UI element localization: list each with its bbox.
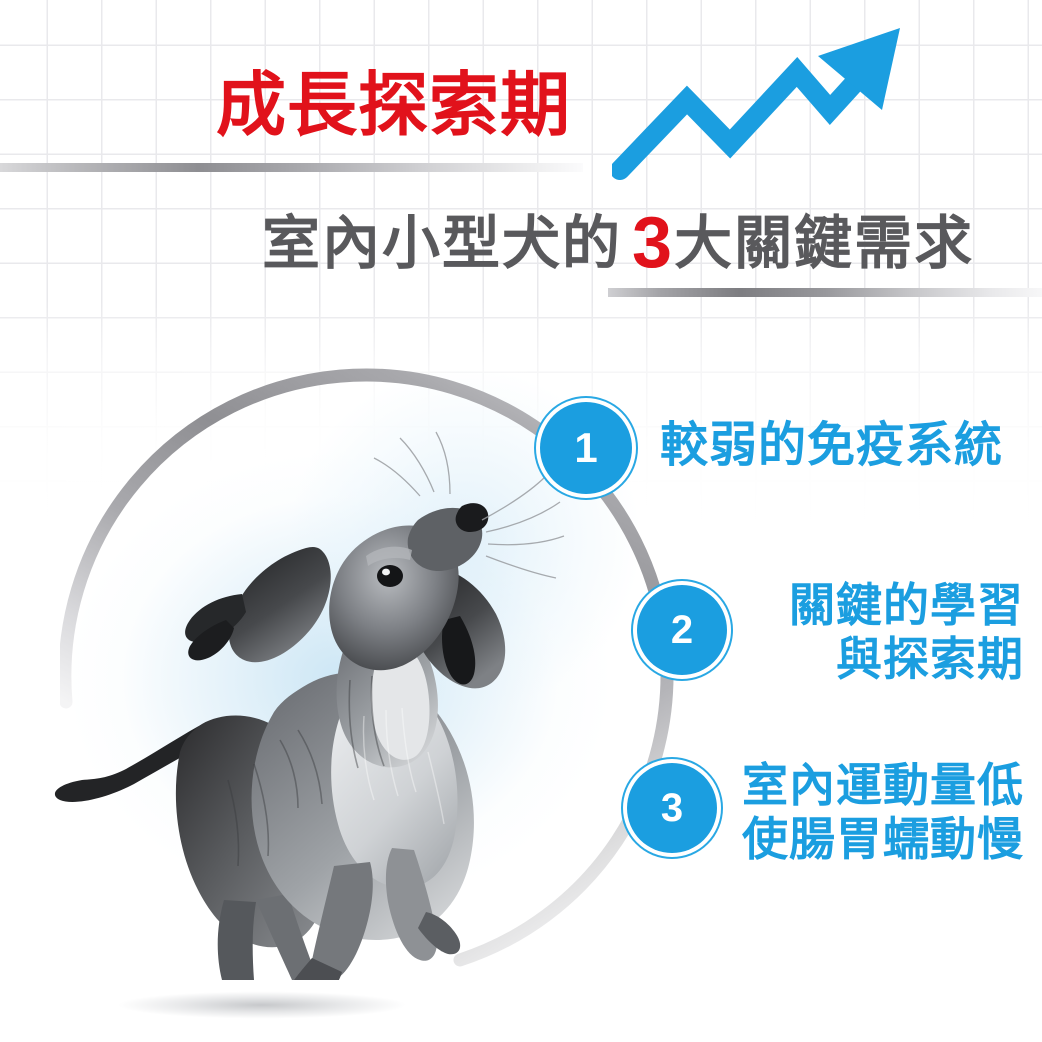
dog-ground-shadow (100, 988, 460, 1022)
page-title: 成長探索期 (216, 70, 571, 140)
page-subtitle: 室內小型犬的3大關鍵需求 (262, 200, 974, 279)
need-label-2: 關鍵的學習 與探索期 (646, 578, 1024, 687)
need-label-3: 室內運動量低 使腸胃蠕動慢 (624, 758, 1024, 867)
need-badge-1: 1 (540, 402, 632, 494)
need-label-1: 較弱的免疫系統 (660, 418, 1003, 475)
subtitle-number-three: 3 (622, 203, 674, 283)
poster-canvas: 成長探索期 室內小型犬的3大關鍵需求 1 2 3 較弱的免疫系統 關鍵的學習 與… (0, 0, 1042, 1042)
divider-middle (608, 288, 1042, 297)
subtitle-prefix: 室內小型犬的 (262, 211, 622, 276)
growth-arrow-icon (612, 22, 912, 187)
subtitle-suffix: 大關鍵需求 (674, 211, 974, 276)
divider-top (0, 163, 583, 172)
